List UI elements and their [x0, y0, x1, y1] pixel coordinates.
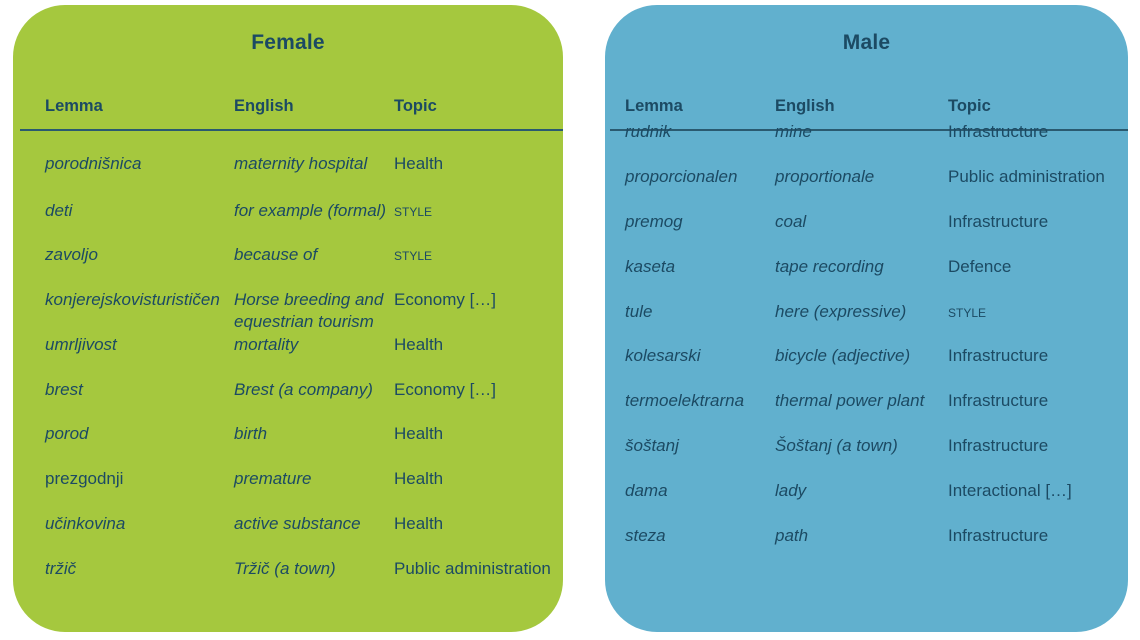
cell-lemma: porodnišnica	[45, 153, 233, 175]
cell-english: active substance	[234, 513, 394, 535]
cell-lemma: tržič	[45, 558, 233, 580]
panel-female: Female Lemma English Topic porodnišnicam…	[13, 5, 563, 632]
cell-english: Tržič (a town)	[234, 558, 394, 580]
table-row: prezgodnjiprematureHealth	[13, 468, 563, 513]
table-row: detifor example (formal)STYLE	[13, 200, 563, 245]
cell-topic: Defence	[948, 256, 1128, 278]
cell-english: mine	[775, 121, 948, 143]
cell-lemma: termoelektrarna	[625, 390, 775, 412]
cell-topic: Infrastructure	[948, 525, 1128, 547]
cell-lemma: kaseta	[625, 256, 775, 278]
table-row: šoštanjŠoštanj (a town)Infrastructure	[605, 435, 1128, 480]
table-row: kolesarskibicycle (adjective)Infrastruct…	[605, 345, 1128, 390]
cell-topic: Interactional […]	[948, 480, 1128, 502]
cell-lemma: učinkovina	[45, 513, 233, 535]
cell-english: maternity hospital	[234, 153, 394, 175]
cell-english: lady	[775, 480, 948, 502]
cell-lemma: tule	[625, 301, 775, 323]
cell-topic: Health	[394, 513, 569, 535]
cell-english: proportionale	[775, 166, 948, 188]
cell-english: because of	[234, 244, 394, 266]
column-header-english: English	[775, 97, 835, 116]
cell-lemma: brest	[45, 379, 233, 401]
cell-lemma: kolesarski	[625, 345, 775, 367]
column-header-english: English	[234, 97, 294, 116]
cell-topic: STYLE	[948, 301, 1128, 323]
table-row: rudnikmineInfrastructure	[605, 121, 1128, 166]
table-row: proporcionalenproportionalePublic admini…	[605, 166, 1128, 211]
table-row: brestBrest (a company)Economy […]	[13, 379, 563, 424]
column-header-lemma: Lemma	[625, 97, 683, 116]
cell-english: path	[775, 525, 948, 547]
table-body-male: rudnikmineInfrastructureproporcionalenpr…	[605, 129, 1128, 609]
cell-topic: Health	[394, 334, 569, 356]
cell-english: for example (formal)	[234, 200, 394, 222]
cell-topic: Public administration	[948, 166, 1128, 188]
table-row: umrljivostmortalityHealth	[13, 334, 563, 379]
column-header-topic: Topic	[394, 97, 437, 116]
cell-lemma: steza	[625, 525, 775, 547]
table-male: Lemma English Topic rudnikmineInfrastruc…	[605, 97, 1128, 609]
cell-topic: Economy […]	[394, 289, 569, 311]
table-row: kasetatape recordingDefence	[605, 256, 1128, 301]
table-row: porodnišnicamaternity hospitalHealth	[13, 153, 563, 198]
table-row: damaladyInteractional […]	[605, 480, 1128, 525]
column-header-topic: Topic	[948, 97, 991, 116]
cell-lemma: šoštanj	[625, 435, 775, 457]
cell-topic: Infrastructure	[948, 390, 1128, 412]
cell-english: premature	[234, 468, 394, 490]
table-row: konjerejskovisturističenHorse breeding a…	[13, 289, 563, 334]
cell-topic: Health	[394, 153, 569, 175]
cell-lemma: dama	[625, 480, 775, 502]
cell-topic: Infrastructure	[948, 345, 1128, 367]
cell-topic: Economy […]	[394, 379, 569, 401]
cell-lemma: zavoljo	[45, 244, 233, 266]
cell-english: bicycle (adjective)	[775, 345, 948, 367]
cell-lemma: prezgodnji	[45, 468, 233, 490]
cell-english: Šoštanj (a town)	[775, 435, 948, 457]
panel-title-female: Female	[13, 31, 563, 55]
table-row: premogcoalInfrastructure	[605, 211, 1128, 256]
panel-male: Male Lemma English Topic rudnikmineInfra…	[605, 5, 1128, 632]
cell-topic: Public administration	[394, 558, 569, 580]
cell-english: here (expressive)	[775, 301, 948, 323]
cell-lemma: premog	[625, 211, 775, 233]
cell-lemma: rudnik	[625, 121, 775, 143]
panel-title-male: Male	[605, 31, 1128, 55]
cell-english: Brest (a company)	[234, 379, 394, 401]
table-row: stezapathInfrastructure	[605, 525, 1128, 570]
cell-english: tape recording	[775, 256, 948, 278]
cell-topic: Infrastructure	[948, 121, 1128, 143]
cell-english: mortality	[234, 334, 394, 356]
table-row: tulehere (expressive)STYLE	[605, 301, 1128, 346]
cell-lemma: konjerejskovisturističen	[45, 289, 233, 311]
cell-topic: Health	[394, 468, 569, 490]
cell-topic: Infrastructure	[948, 211, 1128, 233]
cell-lemma: deti	[45, 200, 233, 222]
cell-topic: Health	[394, 423, 569, 445]
table-header-female: Lemma English Topic	[13, 97, 563, 129]
cell-topic: STYLE	[394, 200, 569, 222]
table-row: porodbirthHealth	[13, 423, 563, 468]
cell-topic: Infrastructure	[948, 435, 1128, 457]
table-female: Lemma English Topic porodnišnicamaternit…	[13, 97, 563, 609]
cell-english: thermal power plant	[775, 390, 948, 412]
cell-english: Horse breeding and equestrian tourism	[234, 289, 394, 333]
cell-lemma: umrljivost	[45, 334, 233, 356]
cell-lemma: porod	[45, 423, 233, 445]
table-row: učinkovinaactive substanceHealth	[13, 513, 563, 558]
table-row: termoelektrarnathermal power plantInfras…	[605, 390, 1128, 435]
column-header-lemma: Lemma	[45, 97, 103, 116]
table-body-female: porodnišnicamaternity hospitalHealthdeti…	[13, 129, 563, 609]
cell-english: coal	[775, 211, 948, 233]
cell-lemma: proporcionalen	[625, 166, 775, 188]
table-row: zavoljobecause ofSTYLE	[13, 244, 563, 289]
cell-topic: STYLE	[394, 244, 569, 266]
table-row: tržičTržič (a town)Public administration	[13, 558, 563, 603]
cell-english: birth	[234, 423, 394, 445]
